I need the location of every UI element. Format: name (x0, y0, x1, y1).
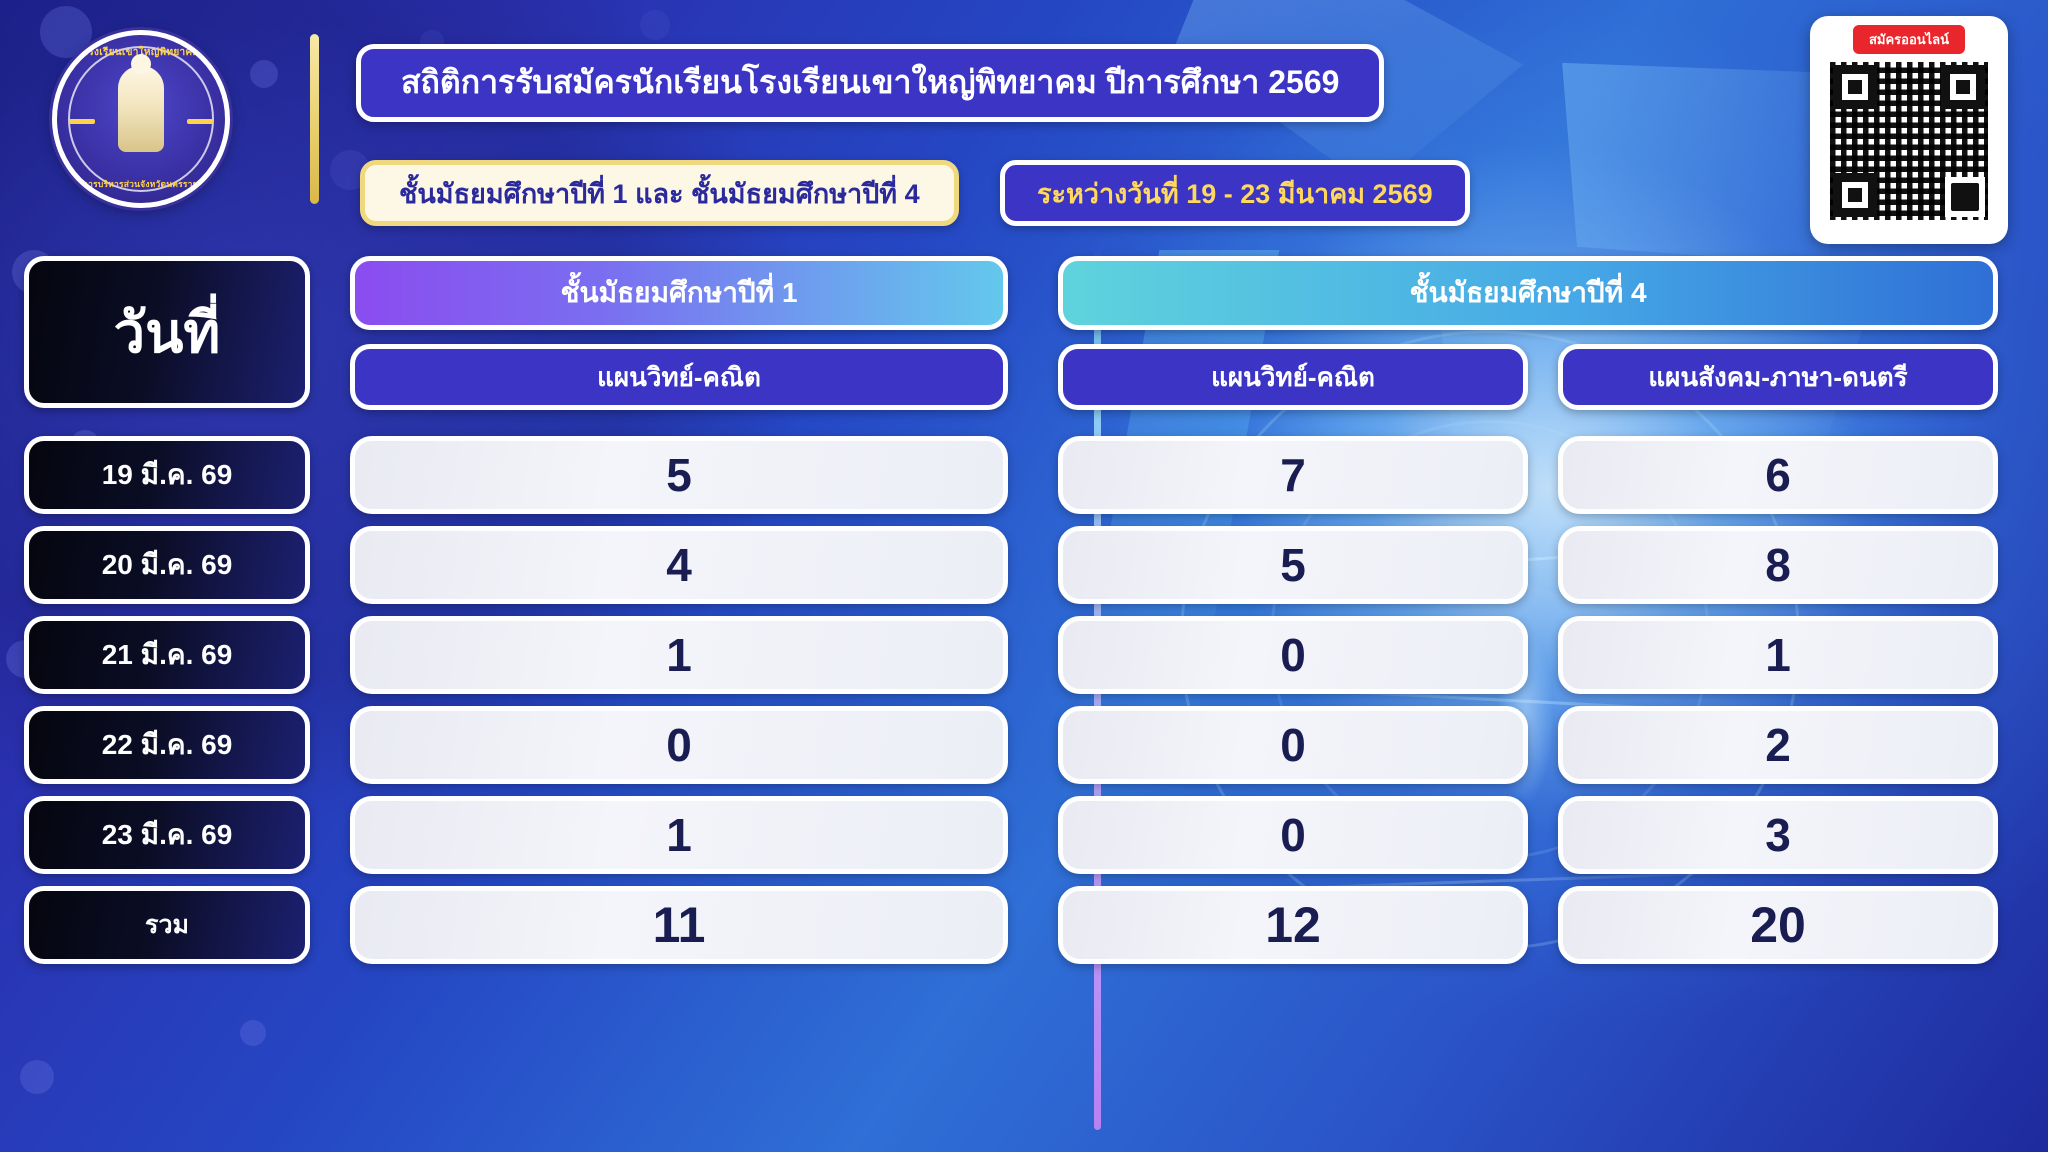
group-header-m1: ชั้นมัธยมศึกษาปีที่ 1 (350, 256, 1008, 330)
row-date-label: 20 มี.ค. 69 (24, 526, 310, 604)
cell-m1-sci: 0 (350, 706, 1008, 784)
cell-m4-soc-value: 6 (1765, 448, 1791, 502)
cell-m4-sci: 0 (1058, 616, 1528, 694)
qr-code-icon[interactable] (1830, 62, 1988, 220)
m1-column-group: ชั้นมัธยมศึกษาปีที่ 1 แผนวิทย์-คณิต (350, 256, 1008, 410)
statistics-table: วันที่ ชั้นมัธยมศึกษาปีที่ 1 แผนวิทย์-คณ… (24, 256, 2024, 976)
total-m1-sci: 11 (350, 886, 1008, 964)
cell-m4-soc-value: 1 (1765, 628, 1791, 682)
row-date-text: 20 มี.ค. 69 (102, 543, 233, 587)
logo-figure-icon (118, 66, 164, 152)
cell-m4-sci-value: 5 (1280, 538, 1306, 592)
table-row: 23 มี.ค. 69 1 0 3 (24, 796, 2024, 874)
cell-m1-sci: 1 (350, 616, 1008, 694)
cell-m4-soc: 6 (1558, 436, 1998, 514)
cell-m4-sci-value: 0 (1280, 628, 1306, 682)
page-title: สถิติการรับสมัครนักเรียนโรงเรียนเขาใหญ่พ… (356, 44, 1384, 122)
row-date-text: 19 มี.ค. 69 (102, 453, 233, 497)
cell-m4-sci: 0 (1058, 796, 1528, 874)
cell-m4-sci-value: 7 (1280, 448, 1306, 502)
cell-m1-sci: 1 (350, 796, 1008, 874)
page-title-text: สถิติการรับสมัครนักเรียนโรงเรียนเขาใหญ่พ… (401, 65, 1339, 100)
program-header-m4-soc-text: แผนสังคม-ภาษา-ดนตรี (1648, 357, 1907, 398)
cell-m4-sci-value: 0 (1280, 718, 1306, 772)
school-logo: โรงเรียนเขาใหญ่พิทยาคม องค์การบริหารส่วน… (52, 30, 230, 208)
table-row: 21 มี.ค. 69 1 0 1 (24, 616, 2024, 694)
program-header-m1-sci: แผนวิทย์-คณิต (350, 344, 1008, 410)
row-date-label: 22 มี.ค. 69 (24, 706, 310, 784)
cell-m4-soc-value: 2 (1765, 718, 1791, 772)
row-date-label: 19 มี.ค. 69 (24, 436, 310, 514)
qr-card[interactable]: สมัครออนไลน์ (1810, 16, 2008, 244)
cell-m1-sci-value: 4 (666, 538, 692, 592)
cell-m4-soc-value: 8 (1765, 538, 1791, 592)
table-row: 19 มี.ค. 69 5 7 6 (24, 436, 2024, 514)
date-range-badge: ระหว่างวันที่ 19 - 23 มีนาคม 2569 (1000, 160, 1470, 226)
cell-m1-sci-value: 1 (666, 628, 692, 682)
cell-m4-soc: 3 (1558, 796, 1998, 874)
logo-arc-bottom-text: องค์การบริหารส่วนจังหวัดนครราชสีมา (67, 177, 214, 191)
cell-m4-soc: 2 (1558, 706, 1998, 784)
row-date-label: 23 มี.ค. 69 (24, 796, 310, 874)
level-note-text: ชั้นมัธยมศึกษาปีที่ 1 และ ชั้นมัธยมศึกษา… (399, 172, 920, 215)
total-m1-sci-value: 11 (653, 896, 706, 954)
total-label-text: รวม (145, 905, 189, 945)
program-header-m4-sci-text: แผนวิทย์-คณิต (1211, 357, 1375, 398)
group-header-m4: ชั้นมัธยมศึกษาปีที่ 4 (1058, 256, 1998, 330)
total-m4-soc: 20 (1558, 886, 1998, 964)
total-m4-sci-value: 12 (1265, 896, 1321, 954)
table-total-row: รวม 11 12 20 (24, 886, 2024, 964)
cell-m4-sci: 5 (1058, 526, 1528, 604)
date-column-header: วันที่ (24, 256, 310, 408)
program-header-m4-sci: แผนวิทย์-คณิต (1058, 344, 1528, 410)
group-header-m1-text: ชั้นมัธยมศึกษาปีที่ 1 (560, 271, 797, 315)
qr-label: สมัครออนไลน์ (1853, 25, 1965, 54)
table-row: 22 มี.ค. 69 0 0 2 (24, 706, 2024, 784)
program-header-m4-soc: แผนสังคม-ภาษา-ดนตรี (1558, 344, 1998, 410)
row-date-text: 22 มี.ค. 69 (102, 723, 233, 767)
program-header-m1-sci-text: แผนวิทย์-คณิต (597, 357, 761, 398)
date-column-header-text: วันที่ (114, 288, 221, 377)
cell-m4-soc-value: 3 (1765, 808, 1791, 862)
total-label-cell: รวม (24, 886, 310, 964)
total-m4-soc-value: 20 (1750, 896, 1806, 954)
row-date-text: 23 มี.ค. 69 (102, 813, 233, 857)
cell-m4-sci: 7 (1058, 436, 1528, 514)
group-header-m4-text: ชั้นมัธยมศึกษาปีที่ 4 (1409, 271, 1646, 315)
level-note-badge: ชั้นมัธยมศึกษาปีที่ 1 และ ชั้นมัธยมศึกษา… (360, 160, 959, 226)
cell-m4-soc: 8 (1558, 526, 1998, 604)
cell-m4-sci: 0 (1058, 706, 1528, 784)
row-date-label: 21 มี.ค. 69 (24, 616, 310, 694)
cell-m4-sci-value: 0 (1280, 808, 1306, 862)
cell-m1-sci: 5 (350, 436, 1008, 514)
row-date-text: 21 มี.ค. 69 (102, 633, 233, 677)
cell-m4-soc: 1 (1558, 616, 1998, 694)
table-row: 20 มี.ค. 69 4 5 8 (24, 526, 2024, 604)
cell-m1-sci-value: 1 (666, 808, 692, 862)
date-range-text: ระหว่างวันที่ 19 - 23 มีนาคม 2569 (1037, 172, 1433, 215)
cell-m1-sci-value: 5 (666, 448, 692, 502)
m4-column-group: ชั้นมัธยมศึกษาปีที่ 4 แผนวิทย์-คณิต แผนส… (1058, 256, 1998, 410)
total-m4-sci: 12 (1058, 886, 1528, 964)
cell-m1-sci-value: 0 (666, 718, 692, 772)
cell-m1-sci: 4 (350, 526, 1008, 604)
gold-divider-bar (310, 34, 319, 204)
table-header-block: วันที่ ชั้นมัธยมศึกษาปีที่ 1 แผนวิทย์-คณ… (24, 256, 2024, 410)
